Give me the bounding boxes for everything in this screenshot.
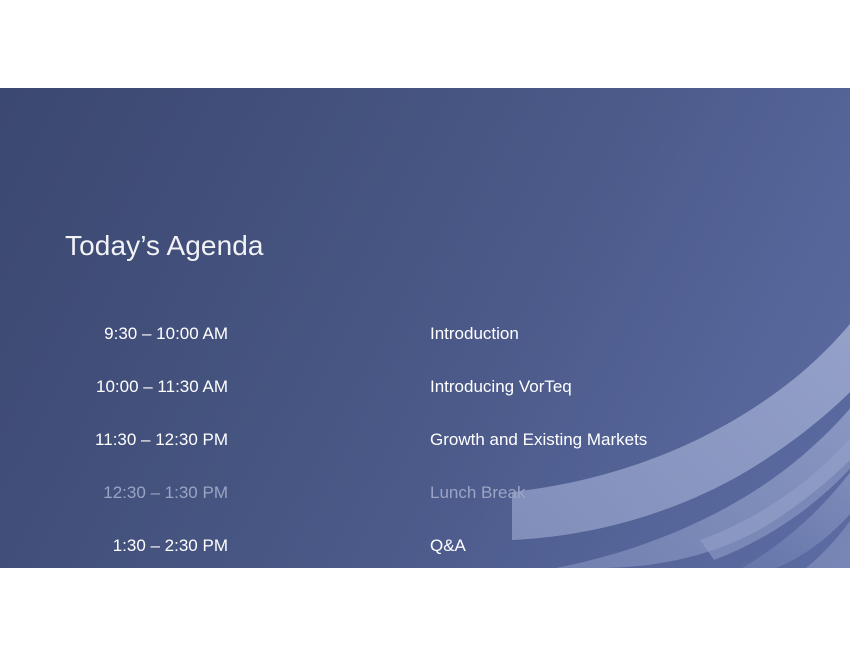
agenda-row: 11:30 – 12:30 PM Growth and Existing Mar… bbox=[0, 430, 850, 483]
agenda-row: 1:30 – 2:30 PM Q&A bbox=[0, 536, 850, 568]
agenda-list: 9:30 – 10:00 AM Introduction 10:00 – 11:… bbox=[0, 324, 850, 568]
agenda-time: 11:30 – 12:30 PM bbox=[0, 430, 228, 450]
page-title: Today’s Agenda bbox=[65, 230, 264, 262]
agenda-time: 12:30 – 1:30 PM bbox=[0, 483, 228, 503]
agenda-row: 10:00 – 11:30 AM Introducing VorTeq bbox=[0, 377, 850, 430]
agenda-description: Lunch Break bbox=[430, 483, 525, 503]
agenda-description: Growth and Existing Markets bbox=[430, 430, 647, 450]
agenda-description: Introducing VorTeq bbox=[430, 377, 572, 397]
agenda-time: 9:30 – 10:00 AM bbox=[0, 324, 228, 344]
agenda-description: Q&A bbox=[430, 536, 466, 556]
agenda-time: 10:00 – 11:30 AM bbox=[0, 377, 228, 397]
agenda-time: 1:30 – 2:30 PM bbox=[0, 536, 228, 556]
agenda-description: Introduction bbox=[430, 324, 519, 344]
agenda-row: 9:30 – 10:00 AM Introduction bbox=[0, 324, 850, 377]
presentation-slide: Today’s Agenda 9:30 – 10:00 AM Introduct… bbox=[0, 88, 850, 568]
agenda-row: 12:30 – 1:30 PM Lunch Break bbox=[0, 483, 850, 536]
